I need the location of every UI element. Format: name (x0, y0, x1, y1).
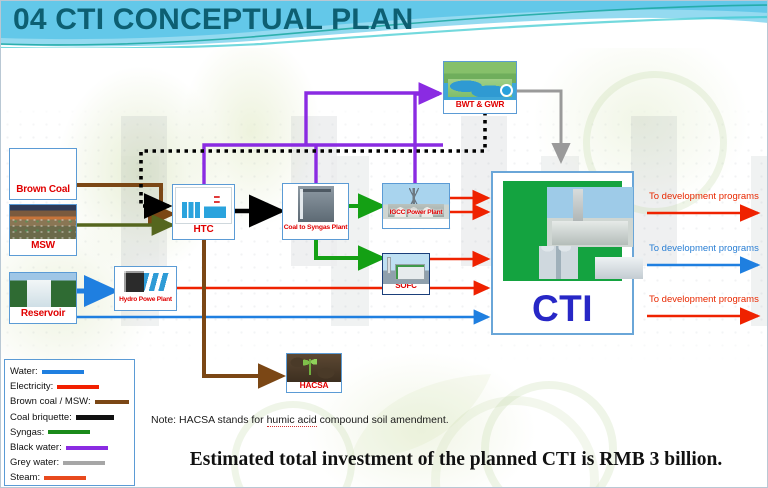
legend-label: Syngas: (10, 427, 44, 438)
output-label-steam: To development programs (649, 294, 759, 305)
note-prefix: Note: HACSA stands for (151, 414, 267, 426)
node-label: Hydro Powe Plant (115, 296, 176, 304)
htc-plant-photo (175, 187, 232, 224)
legend-label: Water: (10, 366, 38, 377)
node-label: Coal to Syngas Plant (283, 222, 348, 231)
output-label-water: To development programs (649, 243, 759, 254)
legend-swatch-coal-briquette (76, 415, 114, 420)
water-treatment-photo (444, 62, 516, 100)
legend-swatch-electricity (57, 385, 99, 389)
cti-label: CTI (493, 290, 632, 327)
node-hacsa[interactable]: HACSA (286, 353, 342, 393)
node-sofc[interactable]: SOFC (382, 253, 430, 295)
legend-label: Steam: (10, 472, 40, 483)
legend-label: Coal briquette: (10, 412, 72, 423)
node-label: Brown Coal (10, 183, 76, 196)
legend-swatch-water (42, 370, 84, 374)
reservoir-dam-photo (10, 273, 76, 307)
node-brown-coal[interactable]: Brown Coal (9, 148, 77, 200)
cti-industrial-photo-secondary (537, 243, 645, 279)
node-igcc-power-plant[interactable]: IGCC Power Plant (382, 183, 450, 229)
cti-image-panel (503, 181, 622, 281)
node-label: MSW (10, 239, 76, 252)
node-label: BWT & GWR (444, 100, 516, 109)
coal-to-syngas-plant-photo (298, 186, 334, 222)
node-bwt-gwr[interactable]: BWT & GWR (443, 61, 517, 114)
legend-item-brown-coal-msw: Brown coal / MSW: (10, 394, 134, 409)
node-cti[interactable]: CTI (491, 171, 634, 335)
page-title: 04 CTI CONCEPTUAL PLAN (13, 3, 414, 37)
note-suffix: compound soil amendment. (317, 414, 449, 426)
node-label: HTC (173, 224, 234, 236)
note-text: Note: HACSA stands for humic acid compou… (151, 414, 449, 426)
legend-label: Electricity: (10, 381, 53, 392)
brown-coal-photo (10, 149, 76, 183)
legend-item-black-water: Black water: (10, 440, 134, 455)
slide-canvas: 04 CTI CONCEPTUAL PLAN (0, 0, 768, 488)
output-label-electricity: To development programs (649, 191, 759, 202)
legend-swatch-brown-coal (95, 400, 129, 404)
legend-label: Brown coal / MSW: (10, 396, 91, 407)
soil-seedling-photo (287, 354, 341, 382)
cti-industrial-photo (547, 187, 633, 247)
node-reservoir[interactable]: Reservoir (9, 272, 77, 324)
legend-panel: Water: Electricity: Brown coal / MSW: Co… (4, 359, 135, 486)
node-coal-to-syngas-plant[interactable]: Coal to Syngas Plant (282, 183, 349, 240)
legend-item-syngas: Syngas: (10, 425, 134, 440)
hydro-power-plant-photo (115, 267, 176, 296)
legend-item-steam: Steam: (10, 470, 134, 485)
municipal-solid-waste-photo (10, 205, 76, 239)
legend-item-electricity: Electricity: (10, 379, 134, 394)
legend-swatch-grey-water (63, 461, 105, 465)
legend-swatch-syngas (48, 430, 90, 434)
legend-swatch-black-water (66, 446, 108, 450)
investment-caption: Estimated total investment of the planne… (151, 449, 761, 471)
node-label: HACSA (287, 381, 341, 390)
note-underlined: humic acid (267, 414, 317, 427)
node-msw[interactable]: MSW (9, 204, 77, 256)
node-label: IGCC Power Plant (383, 210, 449, 217)
sofc-plant-photo (383, 254, 429, 284)
node-hydro-power-plant[interactable]: Hydro Powe Plant (114, 266, 177, 311)
legend-item-grey-water: Grey water: (10, 455, 134, 470)
legend-item-water: Water: (10, 364, 134, 379)
node-label: Reservoir (10, 307, 76, 320)
node-htc[interactable]: HTC (172, 184, 235, 240)
legend-label: Grey water: (10, 457, 59, 468)
legend-item-coal-briquette: Coal briquette: (10, 410, 134, 425)
legend-label: Black water: (10, 442, 62, 453)
legend-swatch-steam (44, 476, 86, 480)
